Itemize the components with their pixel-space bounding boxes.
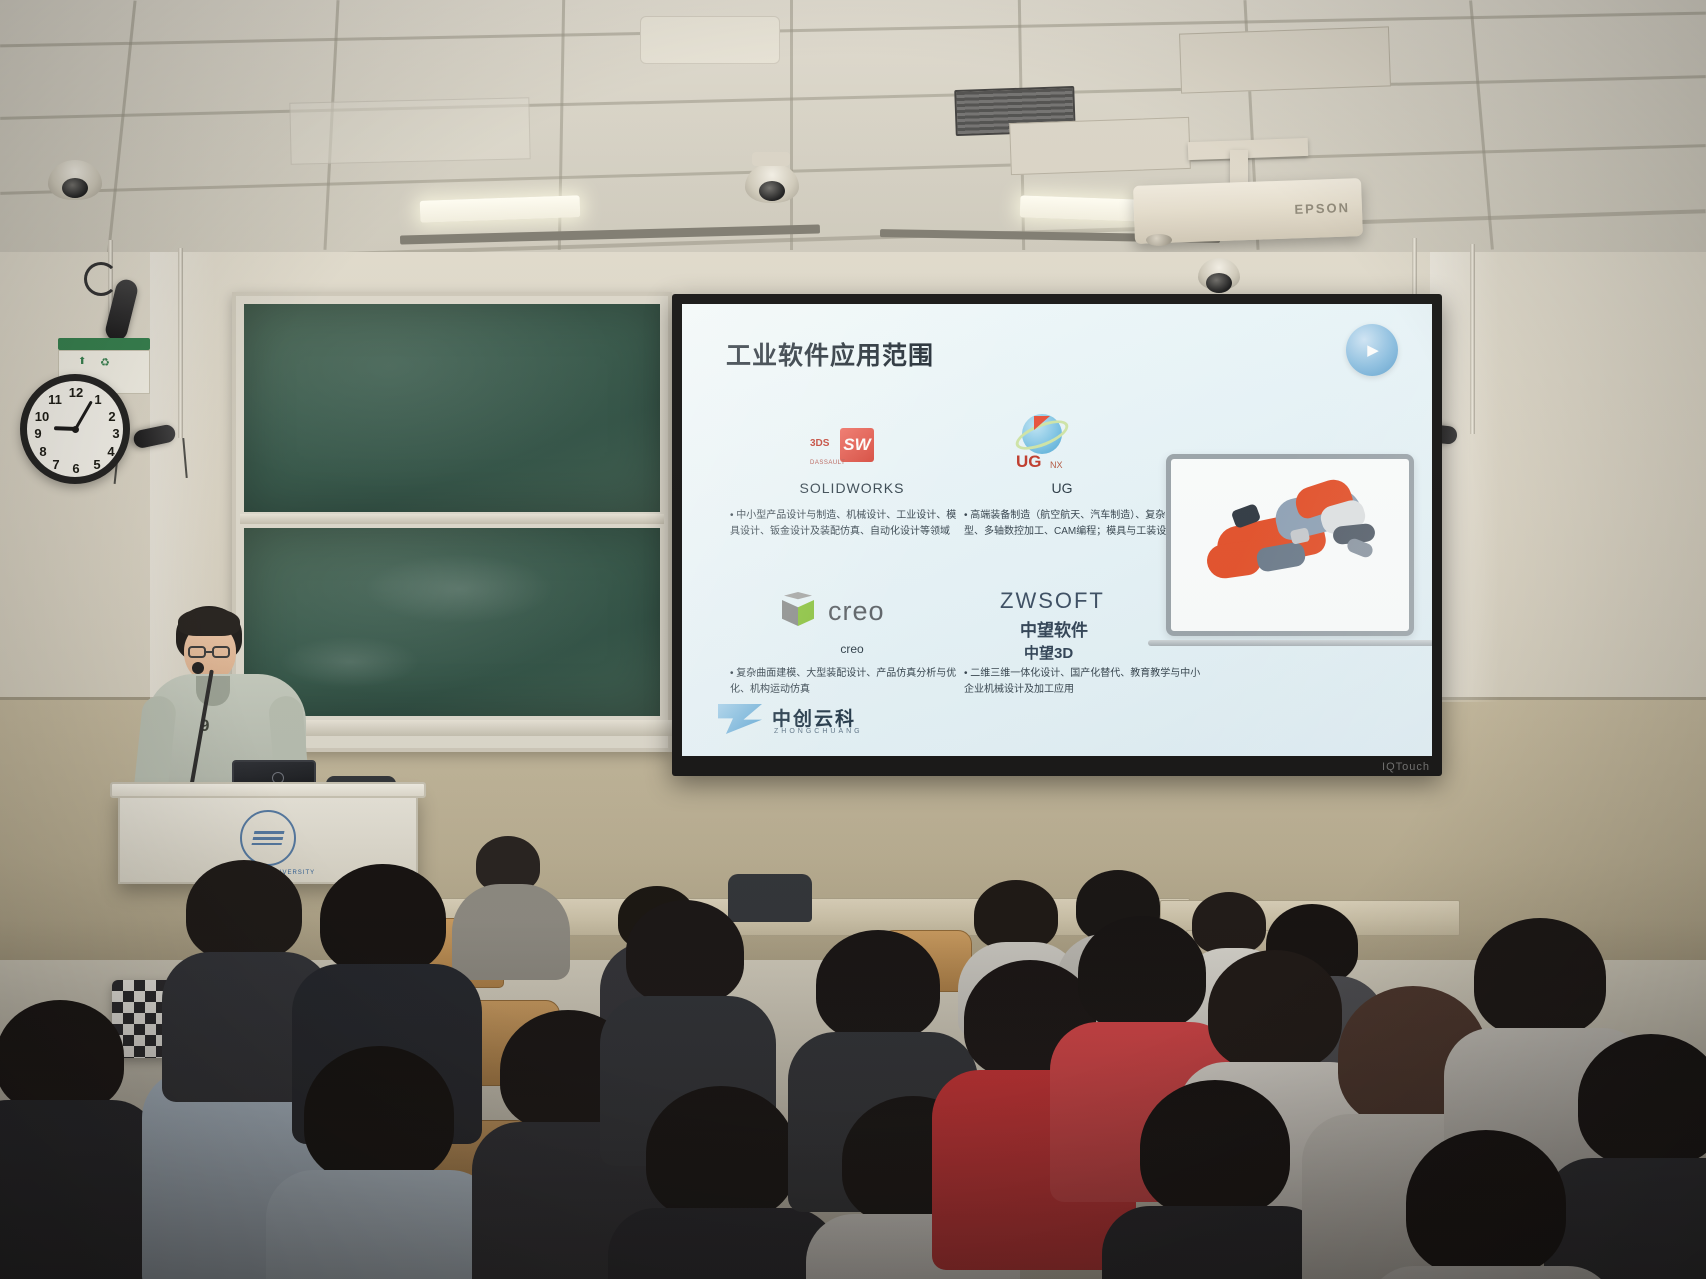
brandmark-chinese-text: 中创云科: [772, 704, 856, 731]
ug-flag-icon: [1034, 416, 1050, 430]
interactive-whiteboard[interactable]: 工业软件应用范围 3DS SW DASSAULT SOLIDWORKS 中小型产…: [672, 294, 1442, 776]
clock-numeral: 9: [29, 426, 47, 441]
brandmark-english-text: ZHONGCHUANG: [774, 728, 863, 735]
ug-nx-logo: UG NX: [1004, 412, 1094, 474]
chalkboard-ledge: [240, 514, 664, 524]
creo-cube-left-face: [782, 600, 798, 626]
solidworks-caption: SOLIDWORKS: [742, 480, 962, 496]
chalkboard-panel-upper: [244, 304, 660, 512]
clock-numeral: 7: [47, 457, 65, 472]
presenter-hair-front: [178, 608, 240, 636]
lecture-hall-photo: EPSON ⬆ ♻ 12 1 2 3 4 5 6 7 8 9 10 11: [0, 0, 1706, 1279]
clock-numeral: 3: [107, 426, 125, 441]
wall-clock: 12 1 2 3 4 5 6 7 8 9 10 11: [20, 374, 130, 484]
zwsoft-chinese-name: 中望软件: [1020, 616, 1088, 641]
zwsoft-wordmark: ZWSOFT: [1000, 588, 1105, 614]
solidworks-sw-letters: SW: [843, 435, 870, 455]
clock-numeral: 1: [89, 392, 107, 407]
creo-caption: creo: [742, 642, 962, 656]
auditorium-chair: [728, 874, 812, 922]
zwsoft-bullet: 二维三维一体化设计、国产化替代、教育教学与中小企业机械设计及加工应用: [964, 666, 1202, 697]
ceiling-dome-camera-left: [48, 160, 102, 200]
slide-title: 工业软件应用范围: [726, 336, 934, 372]
whiteboard-brand-label: IQTouch: [1382, 761, 1430, 773]
solidworks-3ds-text: 3DS: [810, 438, 829, 449]
clock-numeral: 8: [34, 444, 52, 459]
creo-logo: [780, 592, 816, 630]
ceiling-dome-camera-right: [1198, 258, 1240, 290]
eyeglasses-left-lens: [188, 646, 206, 658]
zhongchuang-brandmark: 中创云科 ZHONGCHUANG: [718, 698, 938, 746]
solidworks-bullet: 中小型产品设计与制造、机械设计、工业设计、模具设计、钣金设计及装配仿真、自动化设…: [730, 508, 962, 539]
ug-wordmark: UG: [1016, 452, 1042, 472]
creo-cube-right-face: [798, 600, 814, 626]
clock-numeral: 12: [67, 385, 85, 400]
ceiling-dome-camera-center: [745, 163, 799, 203]
laptop-mockup: [1166, 454, 1414, 636]
ceiling-drop-rod: [178, 248, 183, 438]
chalk-smudge: [364, 554, 554, 624]
lectern-crest-icon: [240, 810, 296, 866]
eyeglasses-right-lens: [212, 646, 230, 658]
clock-center-pin: [72, 426, 79, 433]
clock-numeral: 2: [103, 409, 121, 424]
ceiling-access-panel: [1179, 26, 1391, 93]
ug-nx-suffix: NX: [1050, 460, 1063, 470]
zwsoft-caption: 中望3D: [1024, 642, 1073, 663]
solidworks-logo: 3DS SW DASSAULT: [810, 426, 890, 474]
projector-brand-label: EPSON: [1294, 200, 1350, 217]
solidworks-dassault-text: DASSAULT: [810, 460, 845, 466]
creo-bullet: 复杂曲面建模、大型装配设计、产品仿真分析与优化、机构运动仿真: [730, 666, 962, 697]
creo-wordmark: creo: [828, 596, 885, 627]
play-badge-icon[interactable]: [1346, 324, 1398, 376]
motorcycle-3d-render: [1171, 459, 1409, 631]
ceiling-access-panel: [1009, 117, 1191, 175]
projector-mount-arm: [1230, 150, 1248, 184]
solidworks-cube-icon: SW: [840, 428, 874, 462]
clock-numeral: 10: [33, 409, 51, 424]
lectern-top-surface: [110, 782, 426, 798]
ceiling-projector: EPSON: [1133, 178, 1363, 244]
green-safety-sign: [58, 338, 150, 350]
ug-caption: UG: [972, 480, 1152, 496]
projected-slide: 工业软件应用范围 3DS SW DASSAULT SOLIDWORKS 中小型产…: [682, 304, 1432, 756]
laptop-mockup-base: [1148, 640, 1432, 646]
ceiling-drop-rod: [1470, 244, 1475, 434]
projector-lens: [1146, 234, 1172, 246]
clock-numeral: 11: [46, 392, 64, 407]
microphone-cable-loop: [84, 262, 118, 296]
clock-numeral: 6: [67, 461, 85, 476]
brandmark-swoosh-icon: [718, 704, 762, 734]
clock-numeral: 5: [88, 457, 106, 472]
